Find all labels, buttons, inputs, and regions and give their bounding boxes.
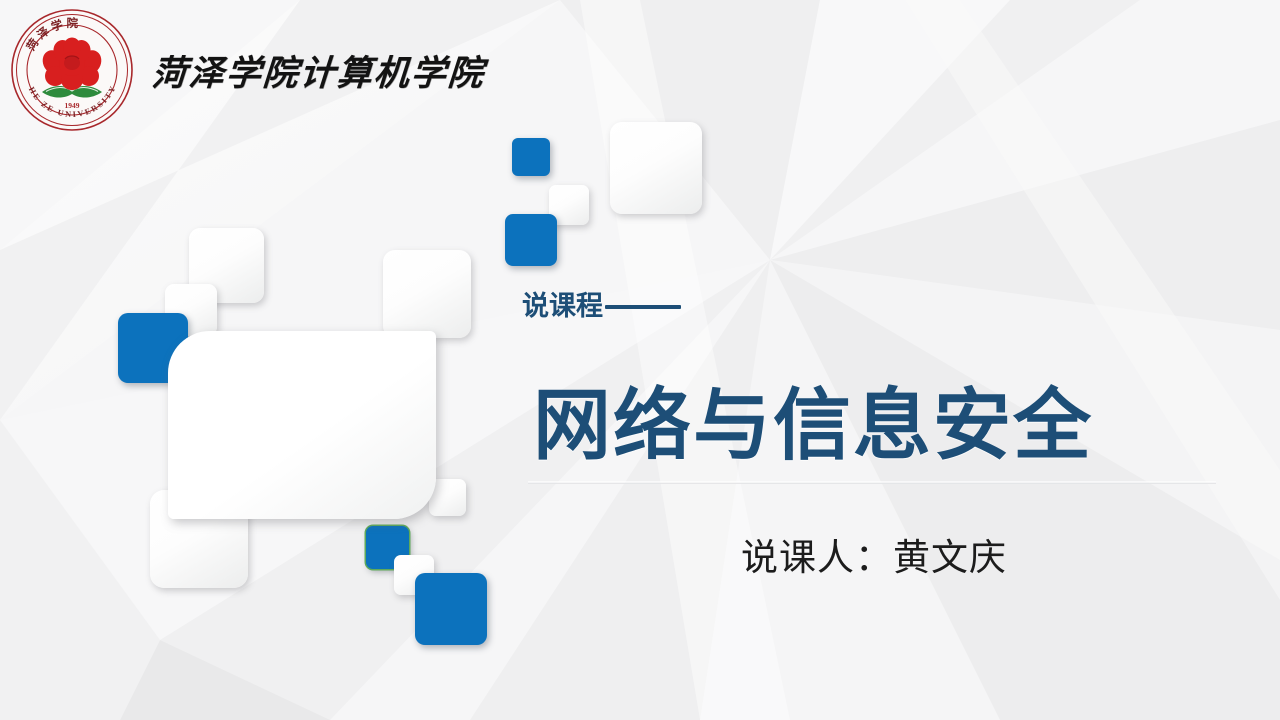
subtitle-label: 说课程	[522, 293, 603, 320]
square-blue-top-medium	[505, 214, 557, 266]
square-white-top-large	[610, 122, 702, 214]
header: 菏 泽 学 院	[0, 0, 520, 140]
page-title: 网络与信息安全	[533, 386, 1093, 464]
school-name: 菏泽学院计算机学院	[150, 45, 487, 96]
title-divider	[528, 481, 1216, 484]
title-slide: 菏 泽 学 院	[0, 0, 1280, 720]
card-big-white	[168, 331, 436, 519]
presenter-label: 说课人：黄文庆	[741, 535, 1007, 581]
square-blue-bottom-big	[415, 573, 487, 645]
logo-year: 1949	[65, 101, 80, 110]
square-blue-top-small	[512, 138, 550, 176]
heze-university-crest-icon: 菏 泽 学 院	[8, 6, 136, 134]
subtitle-row: 说课程	[522, 293, 681, 320]
subtitle-dash-icon	[605, 305, 681, 309]
university-logo: 菏 泽 学 院	[8, 6, 136, 134]
square-white-mid-right	[383, 250, 471, 338]
